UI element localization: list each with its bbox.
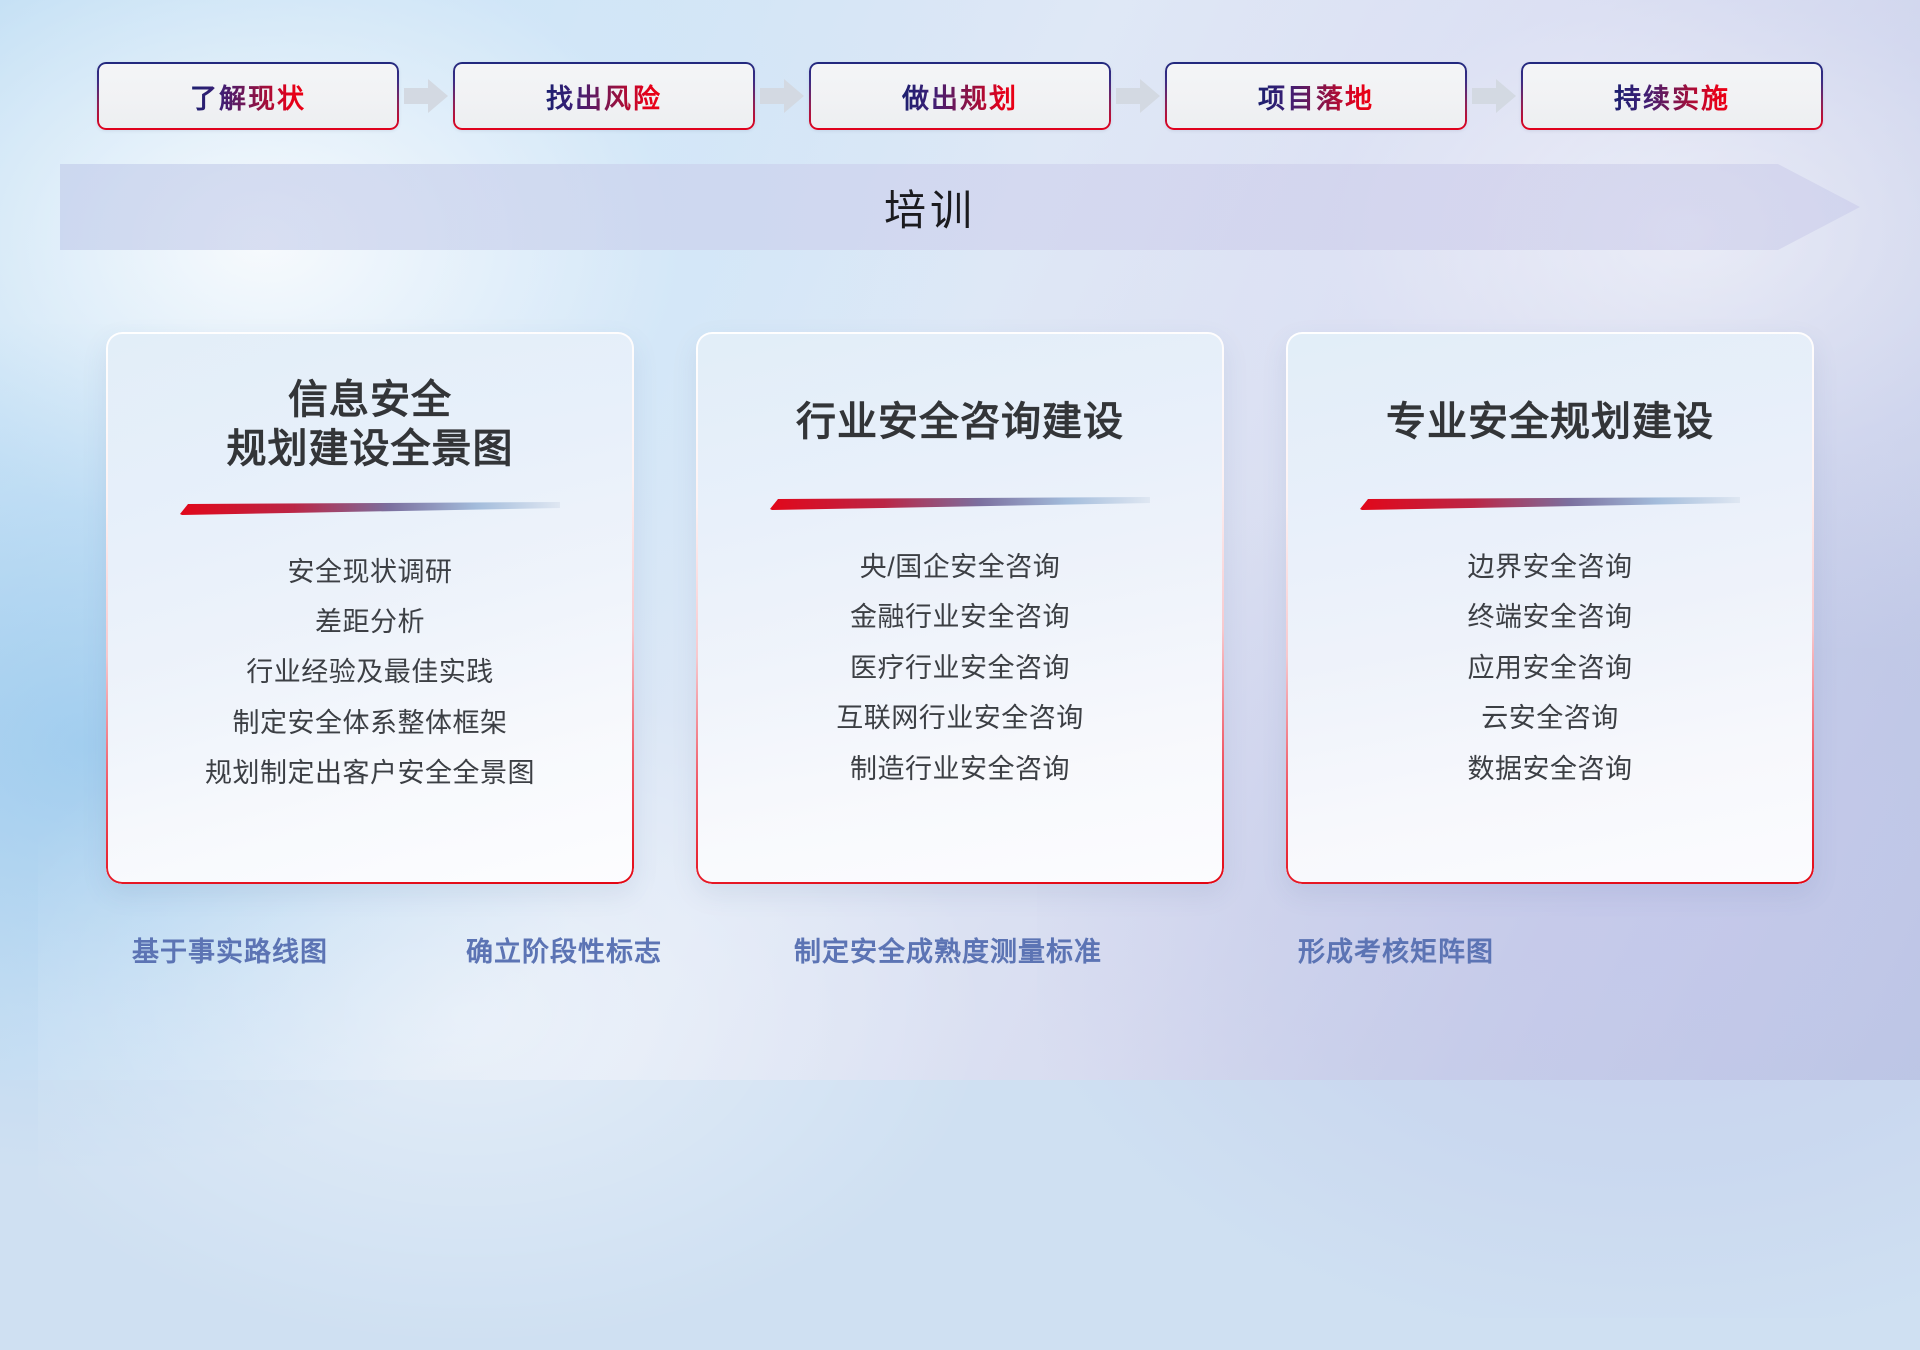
card-title-line: 信息安全 <box>130 376 610 425</box>
process-step-1[interactable]: 了解现状 <box>97 62 399 130</box>
card-divider <box>770 497 1150 510</box>
footnote-row: 基于事实路线图 确立阶段性标志 制定安全成熟度测量标准 形成考核矩阵图 <box>0 930 1920 990</box>
card-list-item: 安全现状调研 <box>288 554 453 590</box>
banner-title: 培训 <box>60 164 1860 250</box>
card-professional-security-planning[interactable]: 专业安全规划建设 <box>1286 332 1814 884</box>
card-list-item: 互联网行业安全咨询 <box>836 700 1084 736</box>
card-divider <box>180 502 560 515</box>
card-title-line: 专业安全规划建设 <box>1310 398 1790 447</box>
card-title: 专业安全规划建设 <box>1286 398 1814 447</box>
process-step-label: 项目落地 <box>1258 77 1374 116</box>
process-step-label: 了解现状 <box>190 77 306 116</box>
card-item-list: 央/国企安全咨询 金融行业安全咨询 医疗行业安全咨询 互联网行业安全咨询 制造行… <box>696 549 1224 787</box>
card-list-item: 制定安全体系整体框架 <box>233 705 508 741</box>
card-industry-security-consulting[interactable]: 行业安全咨询建设 <box>696 332 1224 884</box>
process-step-label: 找出风险 <box>546 77 662 116</box>
arrow-right-icon <box>1111 62 1165 130</box>
process-step-2[interactable]: 找出风险 <box>453 62 755 130</box>
card-list-item: 数据安全咨询 <box>1468 751 1633 787</box>
footnote-label: 确立阶段性标志 <box>466 930 662 969</box>
card-list-item: 制造行业安全咨询 <box>850 751 1070 787</box>
footnote-label: 基于事实路线图 <box>132 930 328 969</box>
card-list-item: 边界安全咨询 <box>1468 549 1633 585</box>
card-list-item: 央/国企安全咨询 <box>860 549 1061 585</box>
card-list-item: 金融行业安全咨询 <box>850 599 1070 635</box>
process-step-3[interactable]: 做出规划 <box>809 62 1111 130</box>
card-list-item: 应用安全咨询 <box>1468 650 1633 686</box>
training-banner: 培训 <box>60 164 1860 250</box>
card-list-item: 行业经验及最佳实践 <box>246 654 494 690</box>
process-steps: 了解现状 找出风险 做出规划 项目落地 持续实施 <box>0 60 1920 132</box>
card-item-list: 安全现状调研 差距分析 行业经验及最佳实践 制定安全体系整体框架 规划制定出客户… <box>106 554 634 792</box>
card-title-line: 规划建设全景图 <box>130 425 610 474</box>
card-list-item: 医疗行业安全咨询 <box>850 650 1070 686</box>
card-item-list: 边界安全咨询 终端安全咨询 应用安全咨询 云安全咨询 数据安全咨询 <box>1286 549 1814 787</box>
card-list-item: 云安全咨询 <box>1481 700 1619 736</box>
card-list-item: 差距分析 <box>315 604 425 640</box>
footnote-label: 形成考核矩阵图 <box>1298 930 1494 969</box>
arrow-right-icon <box>1467 62 1521 130</box>
footnote-label: 制定安全成熟度测量标准 <box>794 930 1102 969</box>
card-list-item: 规划制定出客户安全全景图 <box>205 755 535 791</box>
process-step-label: 做出规划 <box>902 77 1018 116</box>
card-list-item: 终端安全咨询 <box>1468 599 1633 635</box>
arrow-right-icon <box>399 62 453 130</box>
card-title-line: 行业安全咨询建设 <box>720 398 1200 447</box>
process-step-5[interactable]: 持续实施 <box>1521 62 1823 130</box>
card-row: 信息安全 规划建设全景图 <box>0 332 1920 892</box>
card-divider <box>1360 497 1740 510</box>
process-step-label: 持续实施 <box>1614 77 1730 116</box>
arrow-right-icon <box>755 62 809 130</box>
process-step-4[interactable]: 项目落地 <box>1165 62 1467 130</box>
card-information-security-blueprint[interactable]: 信息安全 规划建设全景图 <box>106 332 634 884</box>
card-title: 行业安全咨询建设 <box>696 398 1224 447</box>
card-title: 信息安全 规划建设全景图 <box>106 376 634 474</box>
